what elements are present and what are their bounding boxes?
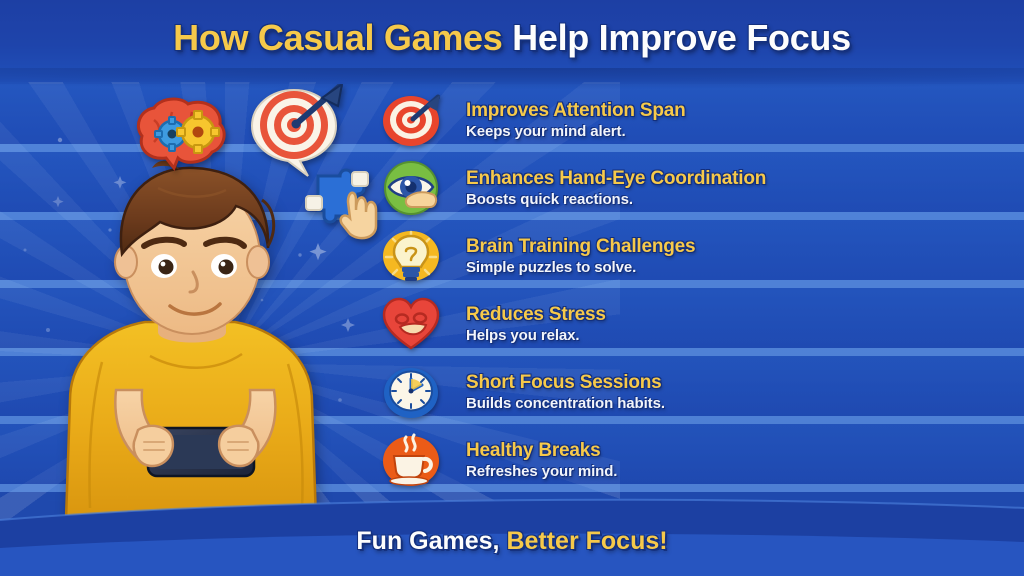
infographic-canvas: How Casual Games Help Improve Focus xyxy=(0,0,1024,576)
footer-tagline: Fun Games, Better Focus! xyxy=(0,527,1024,556)
benefit-subtitle: Keeps your mind alert. xyxy=(466,124,686,140)
benefit-subtitle: Boosts quick reactions. xyxy=(466,192,766,208)
benefits-list: Improves Attention Span Keeps your mind … xyxy=(382,86,1022,494)
coffee-cup-icon xyxy=(382,433,440,487)
brain-gears-icon xyxy=(128,96,232,172)
benefit-row-healthy-breaks[interactable]: Healthy Breaks Refreshes your mind. xyxy=(382,426,1022,494)
benefit-subtitle: Helps you relax. xyxy=(466,328,606,344)
benefit-subtitle: Refreshes your mind. xyxy=(466,464,617,480)
benefit-row-enhances-hand-eye-coordination[interactable]: Enhances Hand-Eye Coordination Boosts qu… xyxy=(382,154,1022,222)
benefit-row-brain-training-challenges[interactable]: Brain Training Challenges Simple puzzles… xyxy=(382,222,1022,290)
benefit-row-short-focus-sessions[interactable]: Short Focus Sessions Builds concentratio… xyxy=(382,358,1022,426)
benefit-subtitle: Simple puzzles to solve. xyxy=(466,260,695,276)
lightbulb-icon xyxy=(382,229,440,283)
benefit-heading: Enhances Hand-Eye Coordination xyxy=(466,169,766,189)
page-title: How Casual Games Help Improve Focus xyxy=(0,17,1024,59)
benefit-heading: Brain Training Challenges xyxy=(466,237,695,257)
heart-icon xyxy=(382,297,440,351)
title-gold-part: How Casual Games xyxy=(173,17,502,58)
title-white-part: Help Improve Focus xyxy=(512,17,851,58)
footer-gold-part: Better Focus! xyxy=(506,527,667,555)
puzzle-hand-icon xyxy=(296,160,382,244)
benefit-row-reduces-stress[interactable]: Reduces Stress Helps you relax. xyxy=(382,290,1022,358)
benefit-heading: Short Focus Sessions xyxy=(466,373,665,393)
benefit-heading: Healthy Breaks xyxy=(466,441,617,461)
benefit-heading: Reduces Stress xyxy=(466,305,606,325)
eye-hand-icon xyxy=(382,161,440,215)
benefit-subtitle: Builds concentration habits. xyxy=(466,396,665,412)
target-icon xyxy=(382,93,440,147)
footer-white-part: Fun Games, xyxy=(356,527,499,555)
clock-icon xyxy=(382,365,440,419)
benefit-heading: Improves Attention Span xyxy=(466,101,686,121)
benefit-row-improves-attention-span[interactable]: Improves Attention Span Keeps your mind … xyxy=(382,86,1022,154)
